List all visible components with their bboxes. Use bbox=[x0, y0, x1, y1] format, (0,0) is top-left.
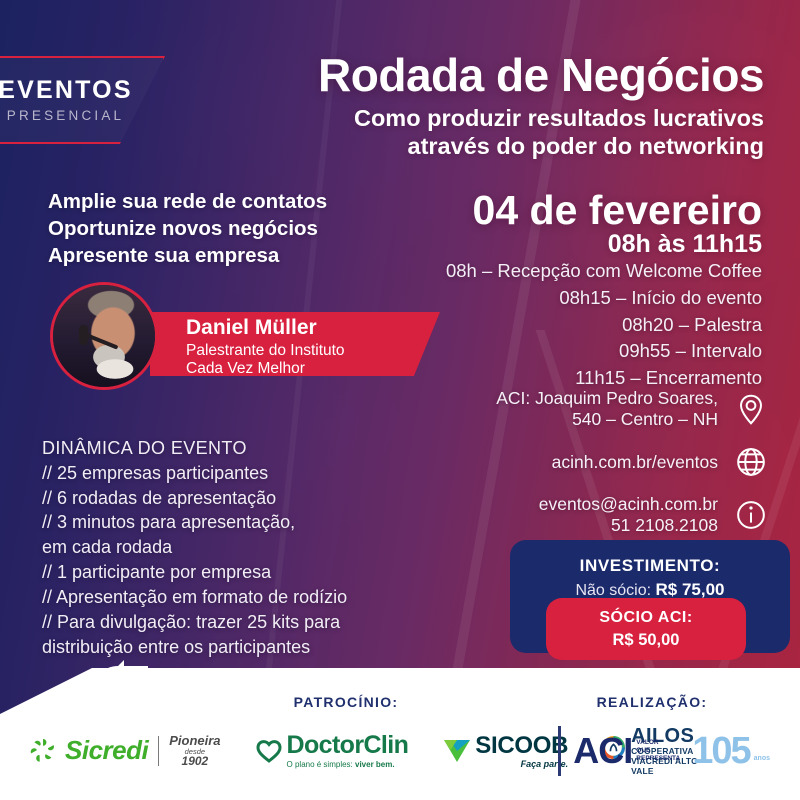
sponsor-logo-sicredi: Sicredi Pioneira desde 1902 bbox=[28, 734, 221, 768]
doctorclin-heart-icon bbox=[255, 737, 283, 765]
sponsor-logos: Sicredi Pioneira desde 1902 DoctorClin O… bbox=[28, 720, 588, 782]
event-poster: EVENTOS PRESENCIAL Rodada de Negócios Co… bbox=[0, 0, 800, 800]
investment-nonmember: Não sócio: R$ 75,00 bbox=[510, 580, 790, 600]
aci-logo-icon: ACI VALOR QUE REPRESENTA bbox=[573, 735, 680, 767]
page-title: Rodada de Negócios bbox=[224, 52, 764, 99]
event-hours: 08h às 11h15 bbox=[322, 232, 762, 257]
aci-wordmark: ACI bbox=[573, 735, 632, 767]
contact-email-phone[interactable]: eventos@acinh.com.br 51 2108.2108 bbox=[539, 494, 718, 536]
sicredi-divider bbox=[158, 736, 159, 766]
schedule-item: 09h55 – Intervalo bbox=[322, 338, 762, 365]
sicredi-tagline: Pioneira desde 1902 bbox=[169, 734, 220, 768]
sicoob-wordmark: SICOOB bbox=[475, 734, 568, 758]
investment-title: INVESTIMENTO: bbox=[510, 556, 790, 576]
contact-address: ACI: Joaquim Pedro Soares, 540 – Centro … bbox=[496, 388, 718, 430]
doctorclin-tagline-plain: O plano é simples: bbox=[287, 760, 355, 769]
globe-icon bbox=[732, 443, 770, 481]
contact-website-row[interactable]: acinh.com.br/eventos bbox=[310, 443, 770, 481]
aci-tagline: VALOR QUE REPRESENTA bbox=[636, 739, 680, 767]
member-title: SÓCIO ACI: bbox=[599, 609, 692, 627]
badge-subtitle: PRESENCIAL bbox=[7, 109, 125, 123]
sicredi-tagline-3: 1902 bbox=[169, 755, 220, 768]
schedule-item: 08h15 – Início do evento bbox=[322, 285, 762, 312]
member-price-badge: SÓCIO ACI: R$ 50,00 bbox=[546, 598, 746, 660]
sicoob-triangle-icon bbox=[442, 738, 472, 764]
page-subtitle-line-2: através do poder do networking bbox=[224, 133, 764, 161]
sponsor-logo-doctorclin: DoctorClin O plano é simples: viver bem. bbox=[255, 733, 409, 769]
sicredi-tagline-1: Pioneira bbox=[169, 734, 220, 748]
member-price: R$ 50,00 bbox=[613, 631, 680, 650]
contact-email-row[interactable]: eventos@acinh.com.br 51 2108.2108 bbox=[310, 494, 770, 536]
doctorclin-tagline: O plano é simples: viver bem. bbox=[287, 760, 409, 769]
dynamics-item: // Apresentação em formato de rodízio bbox=[42, 585, 442, 610]
address-line-1: ACI: Joaquim Pedro Soares, bbox=[496, 388, 718, 409]
contact-phone[interactable]: 51 2108.2108 bbox=[539, 515, 718, 536]
nonmember-label: Não sócio: bbox=[575, 582, 651, 599]
avatar bbox=[50, 282, 158, 390]
event-date: 04 de fevereiro bbox=[322, 190, 762, 231]
location-pin-icon bbox=[732, 390, 770, 428]
contact-email[interactable]: eventos@acinh.com.br bbox=[539, 494, 718, 515]
doctorclin-wordmark: DoctorClin bbox=[287, 733, 409, 758]
dynamics-item: distribuição entre os participantes bbox=[42, 635, 442, 660]
sponsor-logo-sicoob: SICOOB Faça parte. bbox=[442, 734, 568, 769]
sicoob-tagline: Faça parte. bbox=[475, 759, 568, 769]
aci-tagline-2: QUE bbox=[636, 747, 680, 755]
doctorclin-tagline-bold: viver bem. bbox=[355, 760, 395, 769]
poster-header: Rodada de Negócios Como produzir resulta… bbox=[224, 52, 764, 160]
realization-label: REALIZAÇÃO: bbox=[552, 694, 752, 710]
speaker-photo bbox=[53, 285, 155, 387]
address-line-2: 540 – Centro – NH bbox=[496, 409, 718, 430]
aci-anniversary-logo: 105 anos bbox=[692, 734, 770, 768]
realization-divider bbox=[558, 726, 561, 776]
contact-info: ACI: Joaquim Pedro Soares, 540 – Centro … bbox=[310, 388, 770, 549]
info-icon bbox=[732, 496, 770, 534]
dynamics-item: // Para divulgação: trazer 25 kits para bbox=[42, 610, 442, 635]
event-schedule: 08h – Recepção com Welcome Coffee 08h15 … bbox=[322, 258, 762, 392]
eventos-badge: EVENTOS PRESENCIAL bbox=[0, 56, 165, 144]
dynamics-item: // 1 participante por empresa bbox=[42, 560, 442, 585]
contact-website[interactable]: acinh.com.br/eventos bbox=[552, 452, 718, 473]
aci-tagline-1: VALOR bbox=[636, 739, 680, 747]
aci-anniversary-unit: anos bbox=[754, 755, 770, 768]
contact-address-row: ACI: Joaquim Pedro Soares, 540 – Centro … bbox=[310, 388, 770, 430]
page-subtitle: Como produzir resultados lucrativos atra… bbox=[224, 105, 764, 160]
page-subtitle-line-1: Como produzir resultados lucrativos bbox=[224, 105, 764, 133]
aci-anniversary-number: 105 bbox=[692, 734, 749, 768]
sicredi-pinwheel-icon bbox=[28, 736, 58, 766]
realization-logos: ACI VALOR QUE REPRESENTA 105 anos bbox=[558, 722, 770, 780]
badge-title: EVENTOS bbox=[0, 78, 133, 103]
sicredi-wordmark: Sicredi bbox=[65, 735, 148, 766]
schedule-item: 08h20 – Palestra bbox=[322, 312, 762, 339]
schedule-item: 08h – Recepção com Welcome Coffee bbox=[322, 258, 762, 285]
sponsor-label: PATROCÍNIO: bbox=[246, 694, 446, 710]
nonmember-price: R$ 75,00 bbox=[656, 580, 725, 599]
aci-tagline-3: REPRESENTA bbox=[636, 755, 680, 763]
